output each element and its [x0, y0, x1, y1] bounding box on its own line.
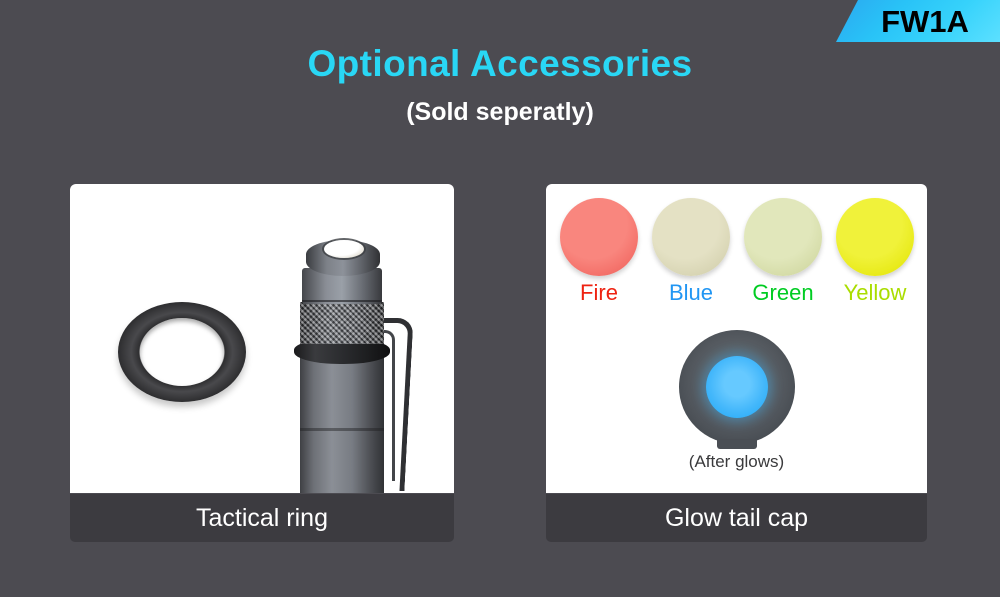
glow-label-fire: Fire: [580, 280, 618, 306]
flashlight-body-seam: [300, 428, 384, 431]
glow-disc-yellow: [836, 198, 914, 276]
glow-disc-blue: [652, 198, 730, 276]
glow-cap-luminous-core: [706, 356, 768, 418]
glow-swatch-green: Green: [742, 198, 824, 306]
glow-disc-fire: [560, 198, 638, 276]
caption-label-glow-tail-cap: Glow tail cap: [665, 504, 808, 533]
panel-tactical-ring: [70, 184, 454, 493]
glow-cap-demo: (After glows): [546, 330, 927, 472]
flashlight-body: [300, 350, 384, 493]
caption-label-tactical-ring: Tactical ring: [196, 504, 328, 533]
tactical-ring-object: [118, 302, 246, 402]
model-banner-label: FW1A: [881, 6, 969, 37]
model-banner: FW1A: [836, 0, 1000, 42]
glow-swatch-fire: Fire: [558, 198, 640, 306]
glow-cap-object: [679, 330, 795, 444]
flashlight-collar-line: [302, 300, 382, 302]
caption-bar-tactical-ring: Tactical ring: [70, 494, 454, 542]
glow-tail-cap-photo: Fire Blue Green Yellow (After glows): [546, 184, 927, 493]
page-subtitle: (Sold seperatly): [0, 98, 1000, 127]
glow-label-green: Green: [752, 280, 813, 306]
page-title: Optional Accessories: [0, 43, 1000, 85]
glow-swatch-yellow: Yellow: [834, 198, 916, 306]
glow-label-blue: Blue: [669, 280, 713, 306]
tactical-ring-photo: [70, 184, 454, 493]
glow-swatch-blue: Blue: [650, 198, 732, 306]
caption-bar-glow-tail-cap: Glow tail cap: [546, 494, 927, 542]
glow-cap-caption: (After glows): [689, 452, 784, 472]
glow-label-yellow: Yellow: [844, 280, 907, 306]
flashlight-object: [288, 232, 408, 493]
panel-glow-tail-cap: Fire Blue Green Yellow (After glows): [546, 184, 927, 493]
flashlight-switch-button: [324, 240, 364, 258]
flashlight-knurled-band: [300, 302, 384, 344]
glow-color-swatch-row: Fire Blue Green Yellow: [558, 198, 916, 306]
glow-disc-green: [744, 198, 822, 276]
